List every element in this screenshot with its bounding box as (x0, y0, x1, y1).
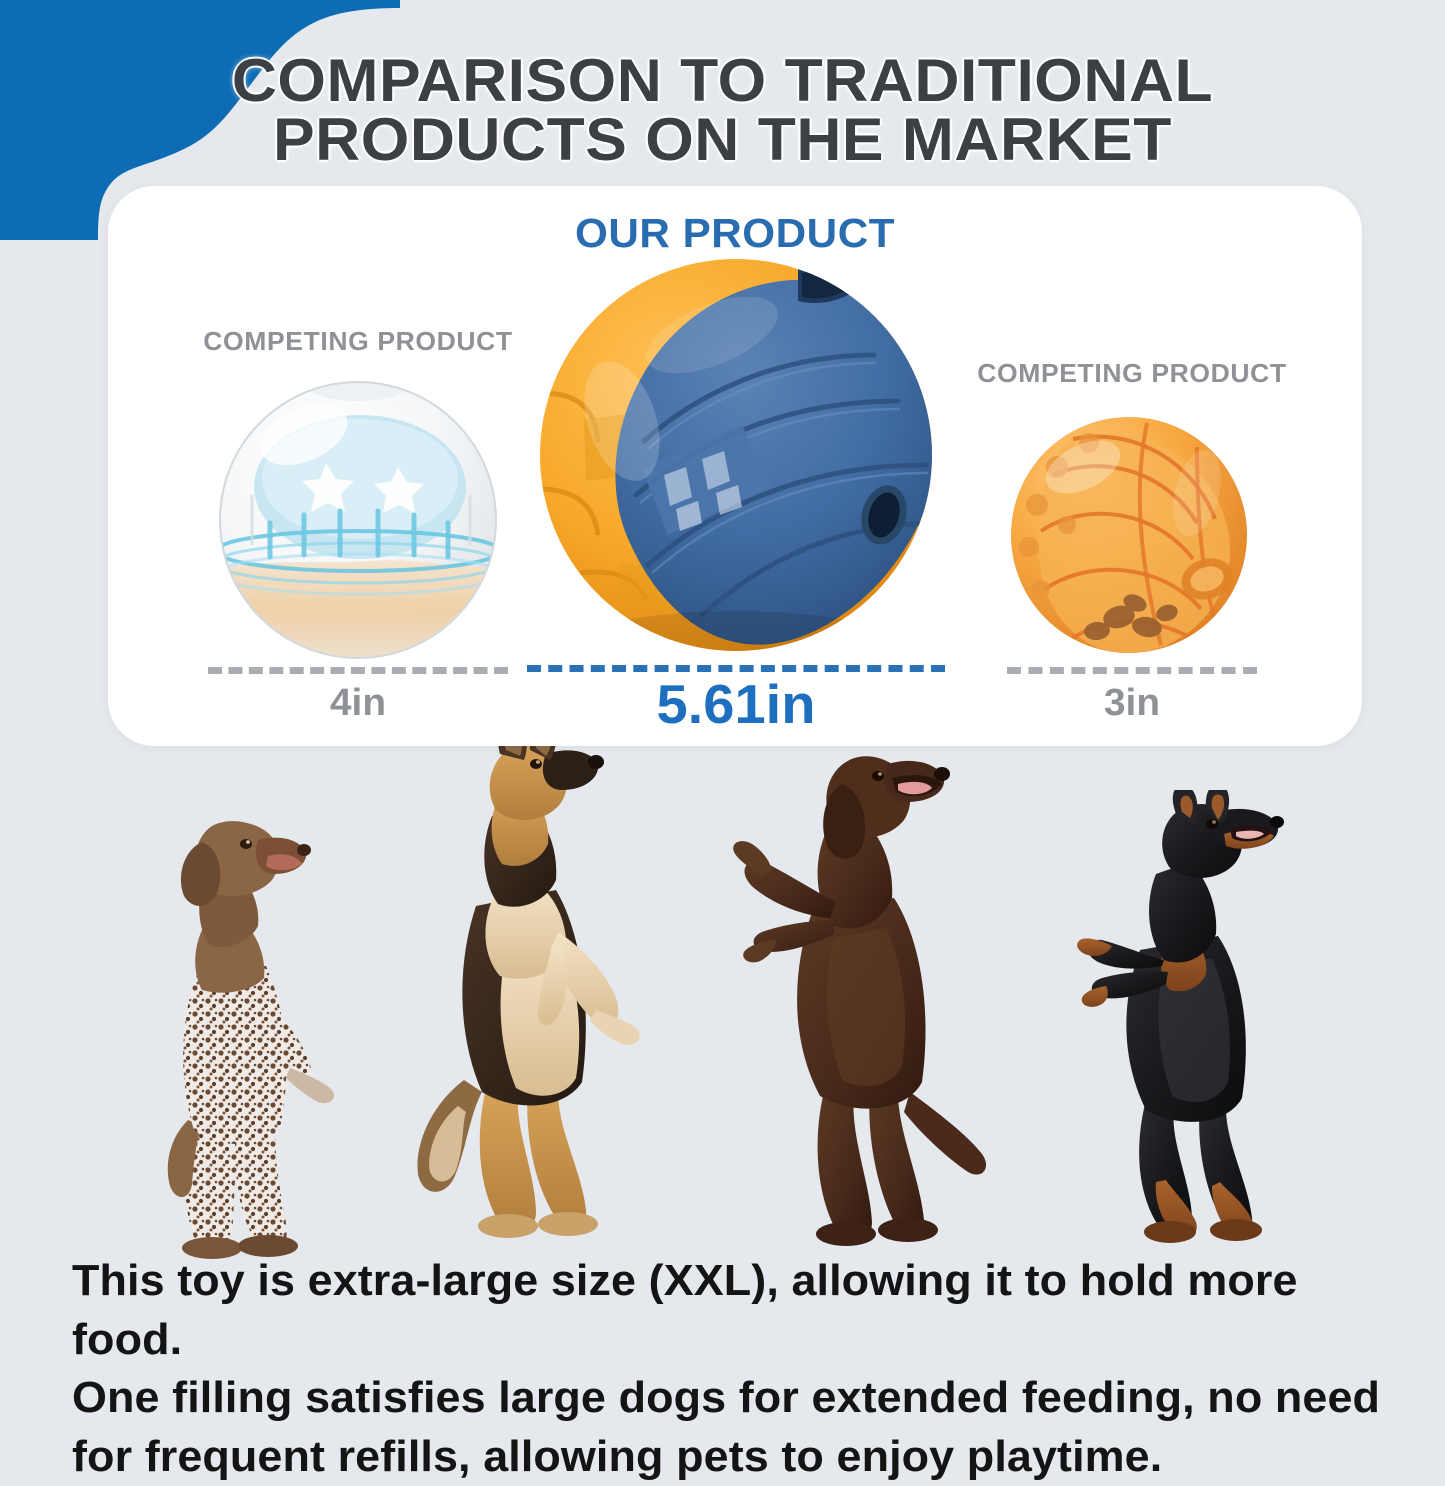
dog-image-chocolate-labrador (730, 740, 1030, 1260)
dog-image-german-shepherd (400, 720, 690, 1260)
infographic-stage: COMPARISON TO TRADITIONAL PRODUCTS ON TH… (0, 0, 1445, 1445)
competing-right-product-image (932, 413, 1332, 663)
page-title-line-2: PRODUCTS ON THE MARKET (0, 111, 1445, 170)
competing-left-measure-line (208, 667, 508, 674)
description-line-1: This toy is extra-large size (XXL), allo… (72, 1252, 1410, 1369)
page-title: COMPARISON TO TRADITIONAL PRODUCTS ON TH… (0, 52, 1445, 170)
dog-image-german-shorthaired-pointer (140, 790, 390, 1260)
product-description: This toy is extra-large size (XXL), allo… (72, 1252, 1384, 1486)
comparison-column-our-product: 5.61in (486, 243, 986, 746)
comparison-column-competing-right: COMPETING PRODUCT (932, 358, 1332, 746)
competing-right-label: COMPETING PRODUCT (928, 358, 1336, 389)
comparison-card: OUR PRODUCT COMPETING PRODUCT (108, 186, 1362, 746)
description-line-3: for frequent refills, allowing pets to e… (72, 1428, 1410, 1486)
dogs-row (0, 690, 1445, 1260)
our-product-image (486, 243, 986, 663)
competing-right-size: 3in (928, 684, 1336, 724)
page-title-line-1: COMPARISON TO TRADITIONAL (0, 52, 1445, 111)
description-line-2: One filling satisfies large dogs for ext… (72, 1369, 1410, 1428)
dog-image-doberman (1060, 790, 1350, 1260)
competing-right-measure-line (1007, 667, 1257, 674)
our-product-size: 5.61in (481, 676, 991, 734)
our-product-measure-line (527, 665, 945, 672)
